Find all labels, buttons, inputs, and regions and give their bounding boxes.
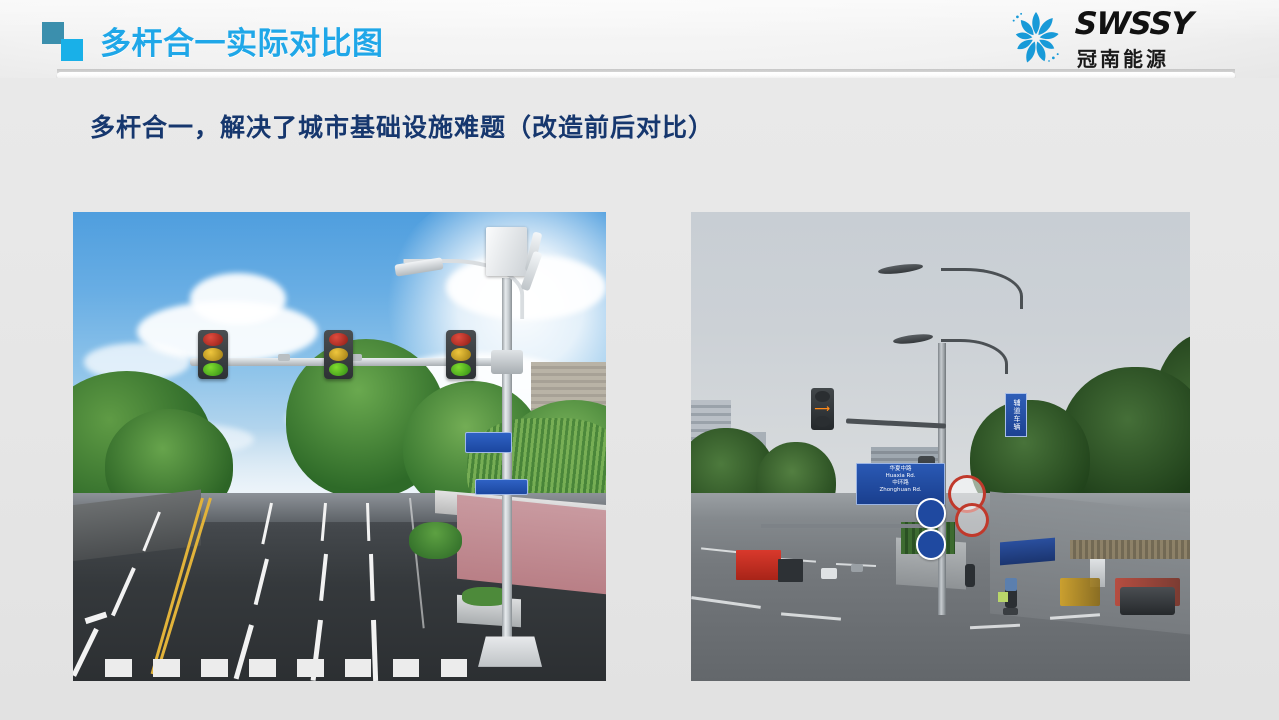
comparison-image-right[interactable]: ⟶ 辅道车辆 华夏中路 Huaxia Rd. 中环路 Zhonghuan Rd. [691,212,1190,681]
logo-brand-cn: 冠南能源 [1077,43,1169,72]
smart-pole [502,278,512,653]
red-truck [736,550,781,580]
traffic-signal-arrow-head: ⟶ [811,388,834,430]
logo-brand-en: SWSSY [1074,6,1193,42]
hedge [409,522,462,560]
bicycle [1003,608,1018,615]
signal-green-lamp [203,363,223,376]
slide-root: 多杆合一实际对比图 [0,0,1279,720]
signal-lamp-off [815,391,830,402]
guide-sign-upper [465,432,512,453]
cloud [190,273,286,325]
signal-yellow-lamp [451,348,471,361]
header-divider [57,72,1235,78]
guide-sign-lower [475,479,528,495]
traffic-signal-head [198,330,228,379]
crossarm-joint [491,350,523,373]
signal-yellow-lamp [203,348,223,361]
base-station-cabinet [486,227,527,276]
rider-shirt [1005,578,1017,591]
guide-sign-line-3: 中环路 [859,480,943,487]
signal-red-lamp [451,333,471,346]
carried-bag [998,592,1008,602]
page-title: 多杆合一实际对比图 [100,18,384,63]
pole-concrete-base [478,636,542,666]
comparison-image-left[interactable] [73,212,606,681]
decor-square-bottom-icon [61,39,83,61]
signal-red-lamp [329,333,349,346]
header-divider-bar [57,72,1235,78]
signal-yellow-lamp [329,348,349,361]
right-arrow-icon: ⟶ [815,403,830,414]
signal-red-lamp [203,333,223,346]
overhead-gantry [761,524,941,528]
right-sidewalk [457,494,606,595]
surveillance-camera-icon [278,354,290,361]
prohibition-sign [955,503,988,537]
signal-green-lamp [451,363,471,376]
truck-cab [778,559,803,582]
parked-bicycles [1060,578,1100,606]
slide-subtitle: 多杆合一，解决了城市基础设施难题（改造前后对比） [90,108,714,144]
company-logo: SWSSY 冠南能源 [1003,5,1261,71]
rider [965,564,975,587]
traffic-signal-head [324,330,354,379]
parked-scooters [1120,587,1175,615]
logo-text-block: SWSSY 冠南能源 [1075,5,1261,69]
vertical-guide-sign: 辅道车辆 [1005,393,1027,438]
signal-lamp-off [815,416,830,427]
vehicle [851,564,863,572]
bicycle-lane-sign [916,529,947,560]
guide-sign-line-4: Zhonghuan Rd. [859,487,943,494]
water-drop-flower-logo-icon [1003,7,1069,69]
vehicle [821,568,837,578]
slide-header: 多杆合一实际对比图 [0,0,1279,78]
guide-sign-line-2: Huaxia Rd. [859,473,943,480]
guide-sign-line-1: 华夏中路 [859,466,943,473]
signal-green-lamp [329,363,349,376]
traffic-signal-head [446,330,476,379]
fence [1070,540,1190,559]
header-decoration-squares [42,22,94,62]
